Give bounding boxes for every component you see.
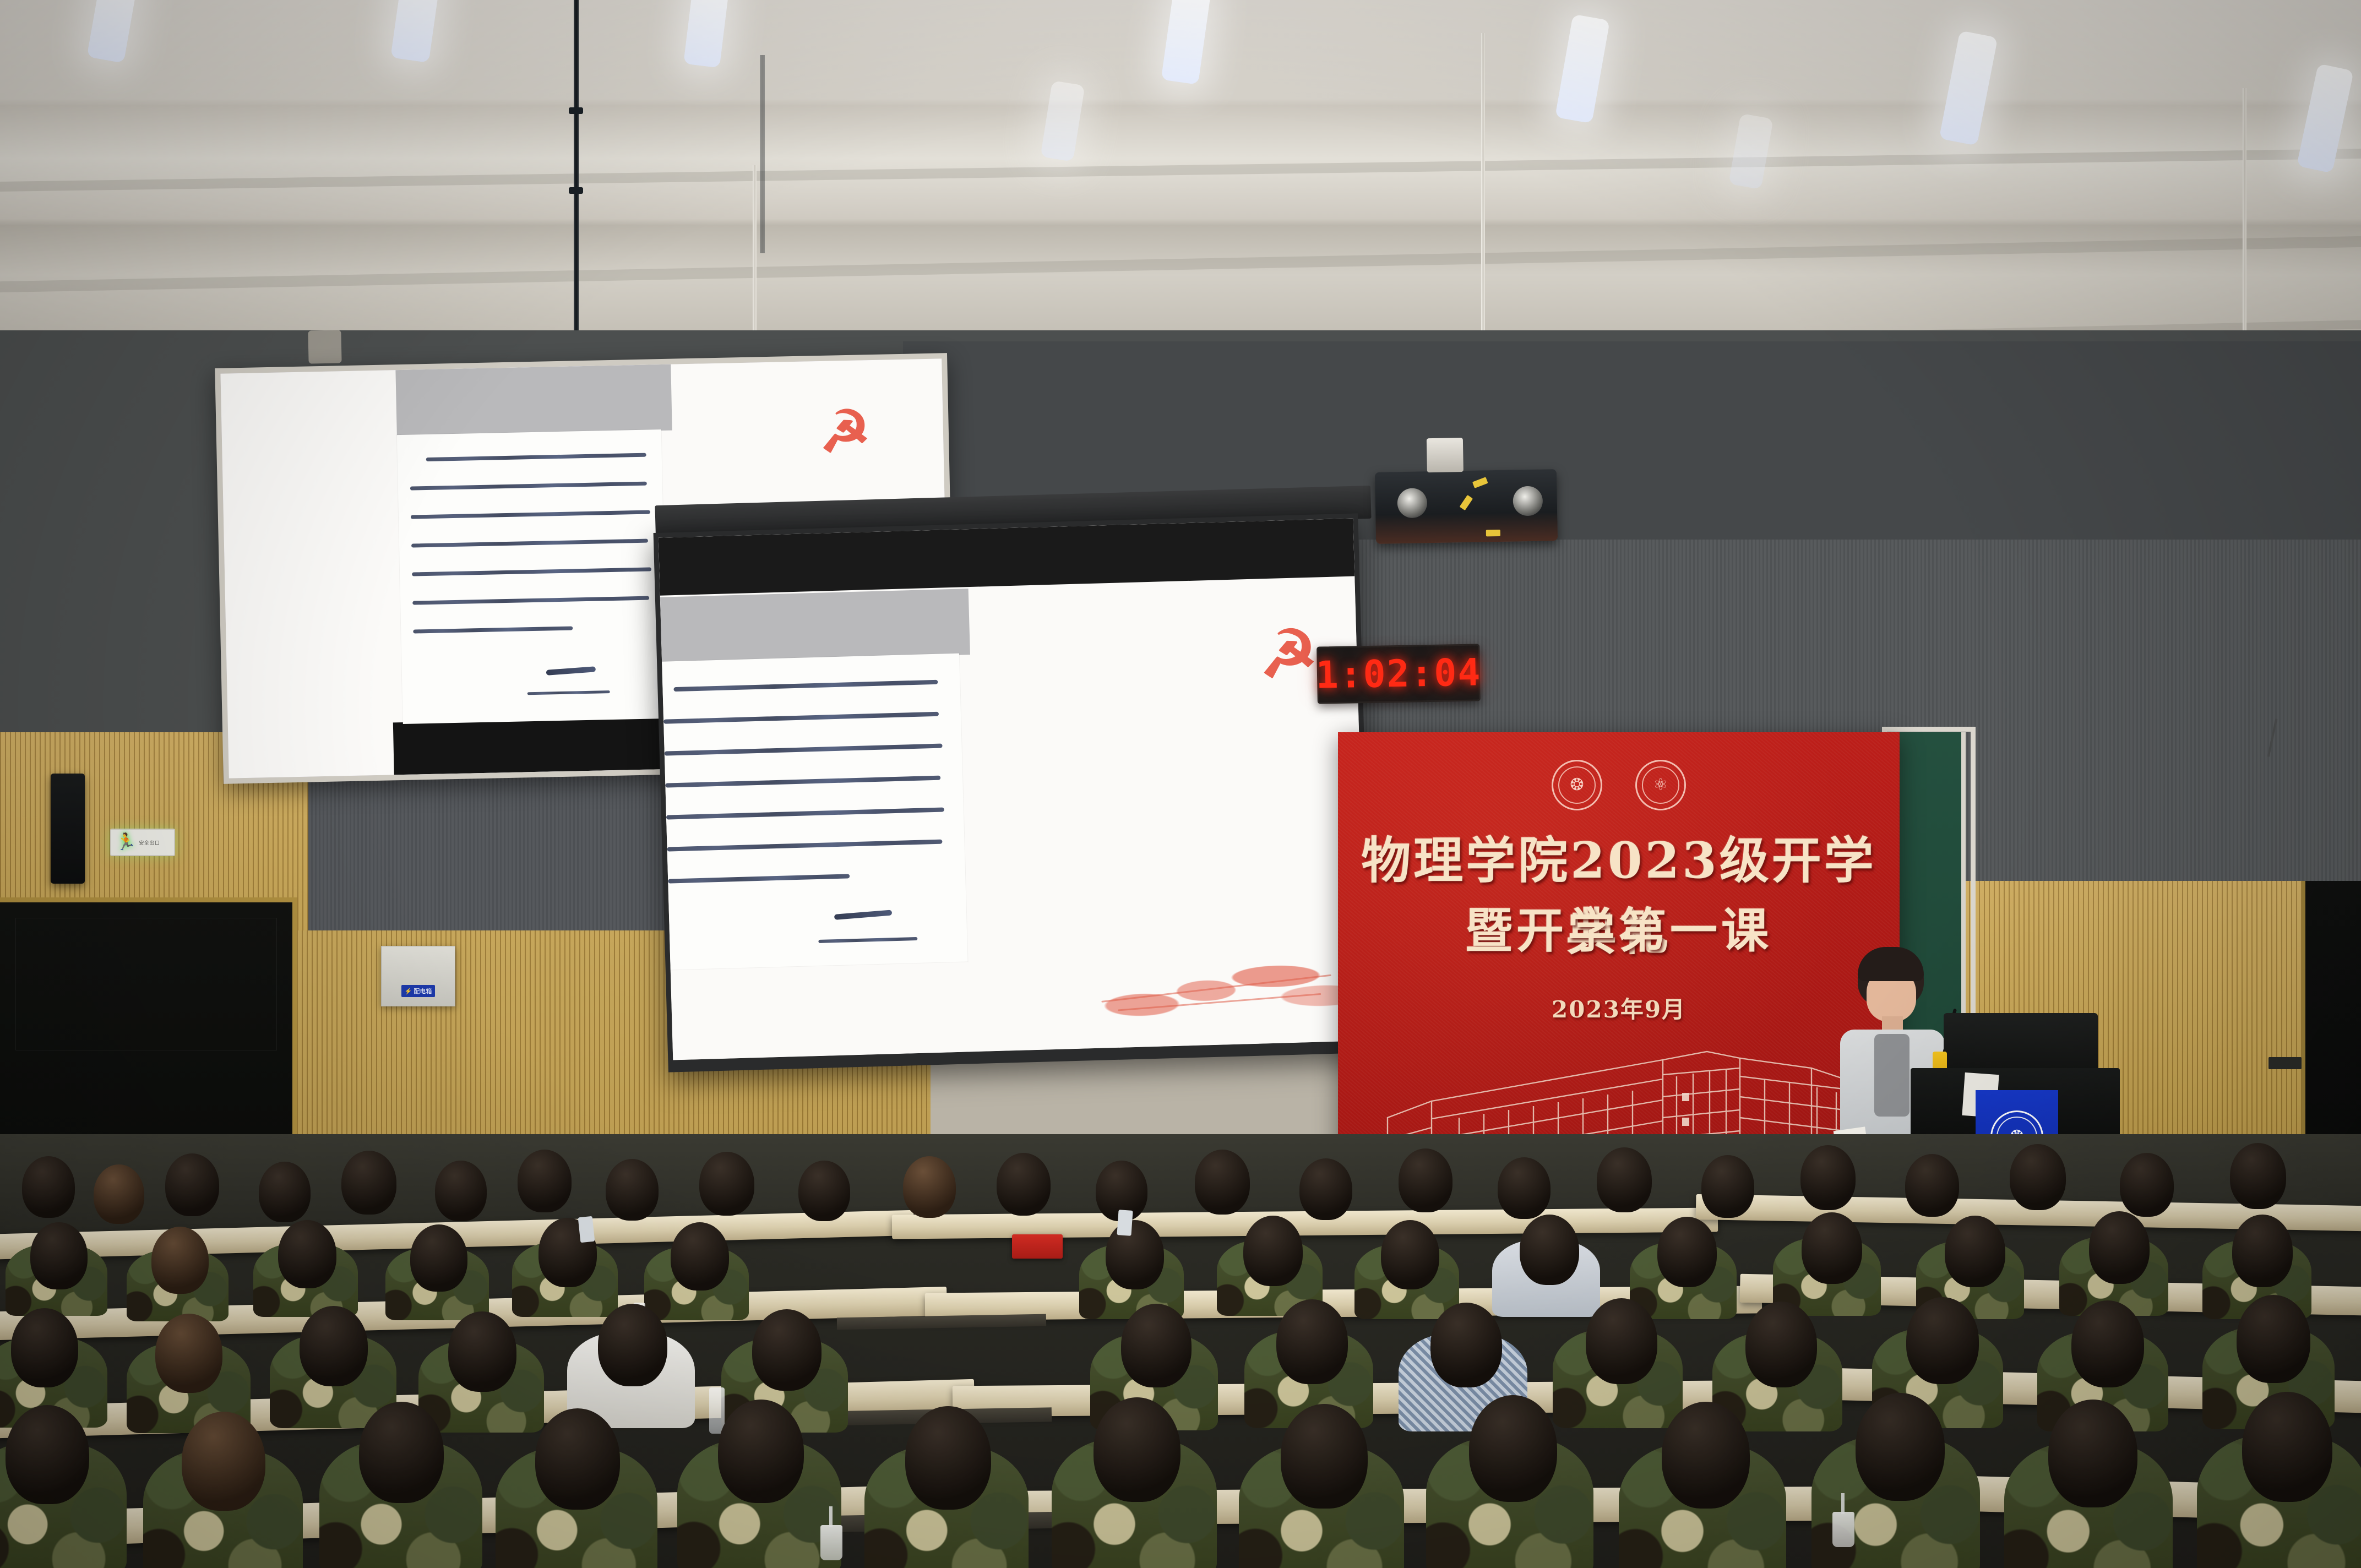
audience-head (6, 1405, 89, 1504)
ceiling-light (1040, 80, 1085, 162)
presenter-hair-top (1858, 947, 1924, 981)
audience-head (30, 1222, 88, 1289)
banner-title-line2: 暨开学第一课 (1338, 892, 1900, 961)
audience-head (752, 1309, 822, 1391)
ceiling (0, 0, 2361, 352)
tv-wall-mount (308, 330, 341, 363)
audience-head (903, 1156, 956, 1218)
slide-top-band (660, 589, 970, 663)
slide-bottom-band (659, 519, 1354, 596)
audience-head (1094, 1397, 1180, 1502)
audience-head (1469, 1395, 1557, 1502)
letter-paper (397, 429, 667, 724)
ceiling-light (86, 0, 138, 63)
ceiling-light (1728, 113, 1774, 189)
projector-bracket (1427, 438, 1464, 472)
audience-head (606, 1159, 659, 1221)
audience-head (165, 1153, 219, 1216)
audience-head (1243, 1216, 1303, 1286)
lightning-bolt-icon: ⚡ (405, 988, 412, 995)
audience-head (1701, 1155, 1754, 1218)
ceiling-hanger-rod (760, 55, 765, 253)
audience-head (2089, 1211, 2150, 1284)
school-of-physics-seal-icon: ⚛ (1635, 760, 1686, 810)
audience-head (1905, 1154, 1959, 1217)
slide-top-band (395, 364, 672, 436)
audience-head (278, 1220, 336, 1288)
audience-head (1299, 1158, 1352, 1220)
ceiling-projector (1375, 469, 1558, 544)
audience-head (535, 1408, 620, 1510)
audience-head (1597, 1147, 1652, 1212)
drink-cup (1832, 1512, 1854, 1547)
audience-head (151, 1227, 209, 1294)
presenter-inner-top (1874, 1034, 1910, 1117)
audience-head (259, 1162, 311, 1222)
projector-cable-tag (1472, 477, 1488, 488)
audience-head (2010, 1144, 2066, 1210)
ceiling-light (390, 0, 441, 63)
audience-head (997, 1153, 1051, 1216)
audience-head (1657, 1217, 1717, 1287)
audience-head (359, 1402, 444, 1503)
rod-clamp (569, 187, 583, 194)
wall-light-switch[interactable] (2268, 1057, 2302, 1069)
audience-head (435, 1161, 487, 1221)
audience-head (718, 1400, 804, 1503)
banner-date: 2023年9月 (1338, 991, 1900, 1025)
exit-sign-label: 安全出口 (139, 839, 160, 846)
audience-head (2120, 1153, 2174, 1217)
wall-speaker (51, 774, 85, 884)
audience-head (410, 1224, 467, 1292)
audience-head (671, 1222, 729, 1291)
audience-head (2071, 1300, 2144, 1387)
audience-head (2232, 1215, 2293, 1287)
projector-cable-tag (1486, 530, 1500, 536)
lecture-hall-photo: 🏃 安全出口 ⚡ 配电箱 (0, 0, 2361, 1568)
ceiling-beam (0, 149, 2361, 192)
audience-head (1906, 1297, 1979, 1384)
audience-head (798, 1161, 850, 1221)
slide-bottom-band (393, 716, 681, 775)
audience-head (1195, 1150, 1250, 1215)
running-man-icon: 🏃 (116, 834, 136, 851)
audience-seating-area (0, 1134, 2361, 1568)
audience-head (1802, 1212, 1862, 1284)
audience-head (2237, 1295, 2310, 1383)
audience-head (448, 1311, 516, 1392)
banner-seal-group: ❂ ⚛ (1338, 760, 1900, 810)
audience-head (1281, 1404, 1368, 1509)
audience-head (2230, 1143, 2286, 1209)
desk-placard (1012, 1234, 1063, 1259)
communist-party-emblem: ☭ (819, 403, 871, 461)
door-pane (15, 918, 277, 1050)
panel-box-text: 配电箱 (414, 987, 432, 995)
audience-head (699, 1152, 754, 1216)
ceiling-beam (0, 236, 2361, 292)
audience-head (905, 1406, 991, 1510)
audience-head (1106, 1220, 1164, 1289)
audience-head (300, 1306, 368, 1386)
projector-lens (1513, 486, 1543, 516)
audience-head (22, 1156, 75, 1218)
audience-head (1430, 1303, 1502, 1387)
digital-wall-clock: 1:02:04 (1316, 644, 1481, 704)
audience-head (1276, 1299, 1348, 1384)
raised-phone (578, 1216, 595, 1243)
front-projection-screen: ☭ (654, 513, 1373, 1072)
projector-cable-tag (1460, 495, 1473, 510)
audience-head (1662, 1402, 1750, 1509)
drink-cup (820, 1525, 842, 1560)
audience-head (1856, 1393, 1945, 1501)
seal-glyph: ❂ (1570, 777, 1584, 793)
audience-head (1498, 1157, 1551, 1219)
audience-head (1399, 1148, 1452, 1212)
audience-head (11, 1308, 78, 1387)
audience-head (2048, 1400, 2137, 1507)
audience-head (155, 1314, 222, 1393)
ceiling-light (683, 0, 730, 68)
audience-head (1121, 1304, 1192, 1387)
clock-time-display: 1:02:04 (1315, 651, 1482, 697)
great-wall-illustration (1089, 937, 1350, 1027)
audience-head (182, 1412, 265, 1511)
audience-head (518, 1150, 572, 1212)
audience-head (1945, 1216, 2005, 1287)
panel-box-label: ⚡ 配电箱 (401, 985, 436, 997)
audience-head (1381, 1220, 1439, 1289)
audience-head (1520, 1215, 1579, 1285)
exit-sign: 🏃 安全出口 (110, 829, 175, 856)
ceiling-light (1939, 30, 1998, 146)
slide-handwritten-letter: ☭ (659, 519, 1368, 1060)
audience-head (2242, 1392, 2332, 1502)
water-bottle (709, 1387, 725, 1434)
audience-head (1586, 1298, 1657, 1384)
raised-phone (1117, 1210, 1133, 1236)
seal-glyph: ⚛ (1653, 777, 1668, 793)
projection-screen-surface: ☭ (659, 519, 1368, 1060)
audience-head (94, 1164, 144, 1224)
audience-head (598, 1304, 667, 1386)
ceiling-light (1555, 14, 1610, 124)
projector-lens (1397, 488, 1427, 518)
audience-head (341, 1151, 396, 1215)
communist-party-emblem: ☭ (1259, 621, 1319, 688)
rod-clamp (569, 107, 583, 114)
jilin-university-seal-icon: ❂ (1552, 760, 1602, 810)
audience-head (1800, 1145, 1856, 1210)
ceiling-light (1161, 0, 1211, 85)
ceiling-hanger-rod (574, 0, 579, 369)
podium-monitor (1944, 1013, 2098, 1074)
audience-head (1745, 1302, 1817, 1387)
electrical-panel-box[interactable]: ⚡ 配电箱 (381, 946, 455, 1006)
